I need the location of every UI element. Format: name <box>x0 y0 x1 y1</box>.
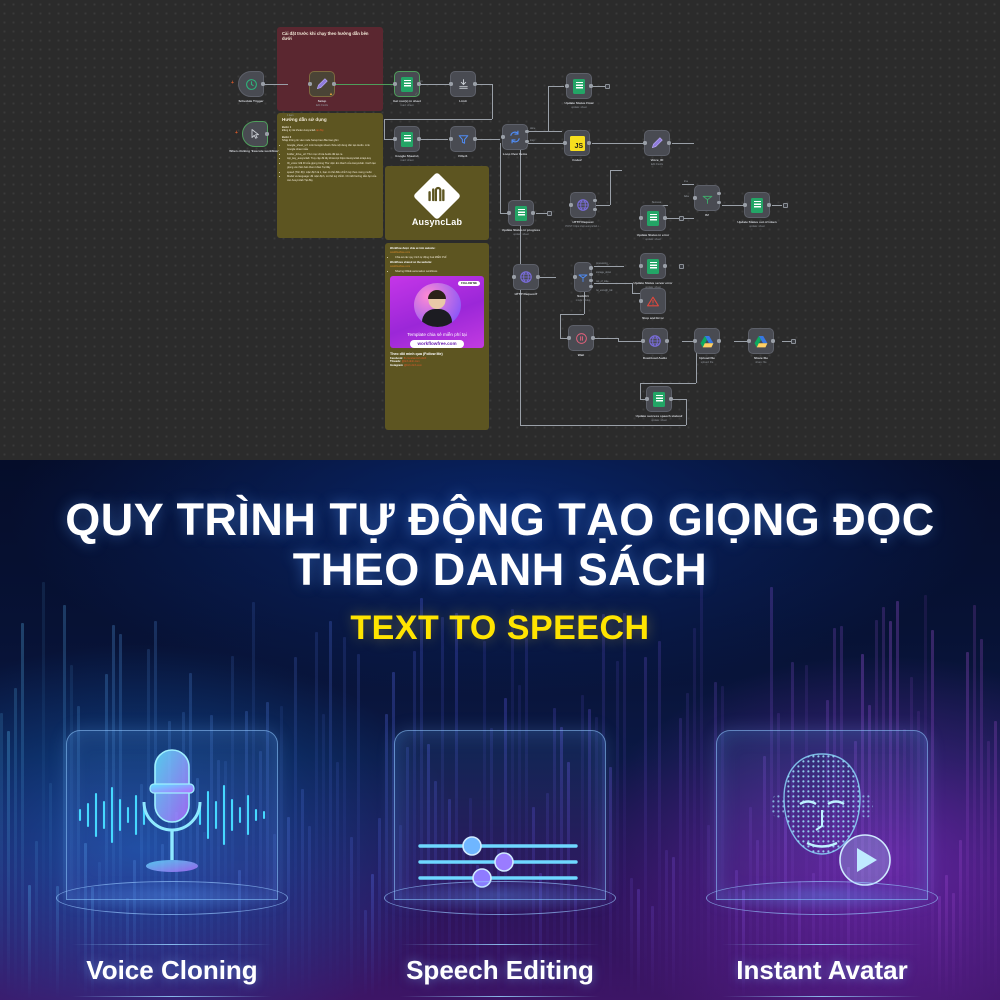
loop-icon <box>508 130 522 144</box>
wire <box>540 277 556 278</box>
output-port[interactable] <box>417 137 420 140</box>
node-label-http-request: HTTP Request POST: https://api.ausynclab… <box>551 221 615 229</box>
input-port[interactable] <box>693 196 696 199</box>
endpoint-cap <box>547 211 552 216</box>
input-port[interactable] <box>393 82 396 85</box>
avatar <box>414 283 461 327</box>
page-subtitle: TEXT TO SPEECH <box>0 609 1000 648</box>
node-label-schedule-trigger: Schedule Trigger <box>219 100 283 104</box>
pencil-icon <box>650 136 664 150</box>
n8n-workflow-canvas[interactable]: Cài đặt trước khi chạy theo hướng dẫn bê… <box>0 0 1000 460</box>
endpoint-cap <box>679 264 684 269</box>
output-port-loop[interactable] <box>525 140 528 143</box>
wire <box>640 383 696 384</box>
follow-label-threads: Threads: <box>390 360 401 363</box>
follow-value-threads[interactable]: @linh.dinh.com <box>402 360 420 363</box>
output-port-true[interactable] <box>717 192 720 195</box>
input-port[interactable] <box>449 137 452 140</box>
feature-panels: Voice Cloning <box>0 730 1000 990</box>
node-loop-over-items[interactable] <box>502 124 528 150</box>
node-label-stop-and-error: Stop and Error <box>621 317 685 321</box>
input-port[interactable] <box>645 397 648 400</box>
glass-frame <box>716 730 928 900</box>
google-sheets-icon <box>515 206 527 221</box>
page-title-line2: THEO DANH SÁCH <box>0 545 1000 595</box>
output-port[interactable] <box>587 141 590 144</box>
warning-badge-icon: ▲ <box>329 92 333 96</box>
glass-frame <box>66 730 278 900</box>
wire <box>384 119 385 139</box>
input-port[interactable] <box>643 141 646 144</box>
ausynclab-logo-icon <box>413 172 461 220</box>
wire <box>594 338 618 339</box>
add-node-plus-icon[interactable]: + <box>235 130 238 136</box>
input-port[interactable] <box>507 211 510 214</box>
wire <box>596 205 610 206</box>
feature-label-speech-editing: Speech Editing <box>360 944 640 997</box>
node-http-request[interactable] <box>570 192 596 218</box>
output-port[interactable] <box>473 82 476 85</box>
output-port-0[interactable] <box>589 266 592 269</box>
switch-icon <box>577 271 589 283</box>
output-port[interactable] <box>265 132 268 135</box>
wire <box>528 131 562 132</box>
output-port-2[interactable] <box>589 279 592 282</box>
clock-icon <box>245 78 258 91</box>
page-title-line1: QUY TRÌNH TỰ ĐỘNG TẠO GIỌNG ĐỌC <box>0 495 1000 545</box>
speech-editor-icon <box>402 740 598 890</box>
wire <box>682 184 694 185</box>
follow-label-instagram: Instagram: <box>390 364 403 367</box>
endpoint-cap <box>783 203 788 208</box>
feature-panel-voice-cloning: Voice Cloning <box>32 730 312 997</box>
node-update-status-final[interactable] <box>566 73 592 99</box>
list-item: Sharing FREE automation workflows <box>395 270 484 274</box>
list-item: Google_sheet_url: Link Google sheet chứa… <box>287 144 378 152</box>
follow-value-instagram[interactable]: @linh.dinh.com <box>404 364 422 367</box>
output-port[interactable] <box>767 203 770 206</box>
share-en-head: Workflows shared on the website: <box>390 261 432 264</box>
node-google-sheets1[interactable] <box>394 126 420 152</box>
promo-url[interactable]: workflowfree.com <box>410 340 463 348</box>
node-label-update-success-speech-status2: Update success speech status2 update: sh… <box>627 415 691 423</box>
limit-icon <box>457 78 470 91</box>
glass-frame <box>394 730 606 900</box>
output-port[interactable] <box>417 82 420 85</box>
output-port[interactable] <box>261 82 264 85</box>
add-node-plus-icon[interactable]: + <box>231 80 234 86</box>
globe-icon <box>576 198 590 212</box>
output-port[interactable] <box>663 264 666 267</box>
input-port[interactable] <box>449 82 452 85</box>
node-when-clicking-execute[interactable] <box>242 121 268 147</box>
wire <box>610 170 611 205</box>
wire <box>264 84 288 85</box>
wire <box>722 205 744 206</box>
globe-icon <box>519 270 533 284</box>
wire <box>520 425 686 426</box>
promo-card: FOLLOW ME Template chia sẻ miễn phí tại … <box>390 276 484 348</box>
list-item: speed (Tốc độ): mặc định là 1, bạn có th… <box>287 171 378 175</box>
hologram-plinth <box>706 881 938 915</box>
node-label-update-status-in-progress: Update Status in progress update: sheet <box>489 229 553 237</box>
google-sheets-icon <box>647 259 659 274</box>
feature-label-instant-avatar: Instant Avatar <box>682 944 962 997</box>
google-sheets-icon <box>573 79 585 94</box>
ausynclab-glyph <box>426 183 448 205</box>
guide-step2-text: Nhập thông tin vào node Setup ban đầu ba… <box>282 139 339 142</box>
wire <box>560 314 584 315</box>
output-port-error[interactable] <box>593 208 596 211</box>
input-port[interactable] <box>569 203 572 206</box>
node-upload-file[interactable] <box>694 328 720 354</box>
node-update-status-out-of-token[interactable] <box>744 192 770 218</box>
cursor-icon <box>249 128 261 140</box>
guide-step1-text: Đăng ký tài khoản Ausynclab <box>282 129 315 132</box>
list-item: Model và language: để mặc định, có thể t… <box>287 175 378 183</box>
node-label-update-status-final: Update Status Final update: sheet <box>547 102 611 110</box>
node-label-switch1: Switch1 mode: Rules <box>551 295 615 303</box>
promo-text: Template chia sẻ miễn phí tại <box>407 332 467 337</box>
follow-section: Theo dõi mình qua (Follow Me) Facebook: … <box>390 352 484 368</box>
feature-panel-instant-avatar: Instant Avatar <box>682 730 962 997</box>
endpoint-cap <box>605 84 610 89</box>
pencil-icon <box>315 77 329 91</box>
endpoint-cap <box>791 339 796 344</box>
node-switch1[interactable] <box>574 262 592 292</box>
output-port-success[interactable] <box>593 199 596 202</box>
wire-label-switch-0: processing_... <box>596 262 611 265</box>
list-item: ID_voice: Mã ID của giọng trong Thư viện… <box>287 162 378 170</box>
wire-label-switch-3: no_enough_tok <box>596 289 613 292</box>
wire <box>384 119 492 120</box>
wire <box>528 143 564 144</box>
warning-triangle-icon <box>646 295 660 308</box>
share-en-url[interactable]: workflowfree.com <box>390 265 410 268</box>
follow-head: Theo dõi mình qua (Follow Me) <box>390 352 443 356</box>
output-port-3[interactable] <box>589 285 592 288</box>
javascript-icon: JS <box>570 136 585 151</box>
output-port[interactable] <box>589 84 592 87</box>
output-port[interactable] <box>717 339 720 342</box>
guide-bullet-list: Google_sheet_url: Link Google sheet chứa… <box>287 144 378 183</box>
branch-icon <box>701 192 714 205</box>
wire-label-if-false: false <box>684 195 689 198</box>
node-label-when-clicking-execute: When clicking ‘Execute workflow’ <box>222 150 286 154</box>
wire-label-loop: loop <box>530 139 535 142</box>
input-port[interactable] <box>512 275 515 278</box>
node-update-status-server-error[interactable] <box>640 253 666 279</box>
sticky-note-setup[interactable]: Cài đặt trước khi chạy theo hướng dẫn bê… <box>277 27 383 111</box>
node-if2[interactable] <box>694 185 720 211</box>
globe-icon <box>648 334 662 348</box>
output-port[interactable] <box>332 82 335 85</box>
node-label-wait: Wait <box>549 354 613 358</box>
input-port[interactable] <box>743 203 746 206</box>
wire <box>672 143 694 144</box>
output-port[interactable] <box>591 336 594 339</box>
wire-label-done: done <box>530 127 535 130</box>
input-port[interactable] <box>565 84 568 87</box>
wire <box>734 341 748 342</box>
list-item: Chia sẻ các quy trình tự động hoá MIỄN P… <box>395 256 484 260</box>
node-filter1[interactable] <box>450 126 476 152</box>
google-sheets-icon <box>647 211 659 226</box>
node-label-http-request7: HTTP Request7 <box>494 293 558 297</box>
node-http-request7[interactable] <box>513 264 539 290</box>
input-port[interactable] <box>563 141 566 144</box>
wire <box>640 383 641 399</box>
node-label-voice-id: Voice_ID Edit Fields <box>625 159 689 167</box>
node-setup[interactable]: ▲ <box>309 71 335 97</box>
output-port[interactable] <box>665 339 668 342</box>
wire <box>618 341 642 342</box>
sticky-note-share[interactable]: Workflow được chia sẻ trên website: work… <box>385 243 489 430</box>
output-port[interactable] <box>667 141 670 144</box>
google-sheets-icon <box>751 198 763 213</box>
sticky-note-guide-title: Hướng dẫn sử dụng <box>282 117 378 123</box>
input-port[interactable] <box>308 82 311 85</box>
google-sheets-icon <box>401 77 413 92</box>
wire <box>592 143 644 144</box>
sticky-note-guide[interactable]: Hướng dẫn sử dụng Bước 1 Đăng ký tài kho… <box>277 113 383 238</box>
wire-label-http-success: Success <box>652 201 661 204</box>
wire <box>672 399 686 400</box>
wire <box>592 86 606 87</box>
check-badge-icon: ✓ <box>415 92 418 96</box>
wire-label-switch-2: out_of_toke... <box>596 280 611 283</box>
wire <box>772 205 782 206</box>
input-port[interactable] <box>639 264 642 267</box>
output-port-done[interactable] <box>525 130 528 133</box>
guide-step1-link[interactable]: tại đây <box>316 129 324 132</box>
wire <box>560 314 561 338</box>
node-stop-and-error[interactable] <box>640 288 666 314</box>
node-label-loop-over-items: Loop Over Items <box>483 153 547 157</box>
node-label-update-status-in-error: Update Status in error update: sheet <box>621 234 685 242</box>
input-port[interactable] <box>747 339 750 342</box>
node-label-if2: If2 <box>675 214 739 218</box>
google-drive-icon <box>700 335 714 348</box>
node-label-google-sheets1: Google Sheets1 read: sheet <box>375 155 439 163</box>
wire-label-if-true: true <box>684 180 688 183</box>
google-drive-icon <box>754 335 768 348</box>
input-port[interactable] <box>693 339 696 342</box>
node-update-status-in-progress[interactable] <box>508 200 534 226</box>
filter-icon <box>457 133 470 146</box>
node-update-status-in-error[interactable] <box>640 205 666 231</box>
node-share-file[interactable] <box>748 328 774 354</box>
list-item: Folder_drive_url: Thư mục chứa Audio đã … <box>287 153 378 157</box>
sticky-note-guide-body: Bước 1 Đăng ký tài khoản Ausynclab tại đ… <box>282 126 378 183</box>
node-schedule-trigger[interactable] <box>238 71 264 97</box>
sticky-note-setup-title: Cài đặt trước khi chạy theo hướng dẫn bê… <box>282 31 378 42</box>
share-vi-url[interactable]: workflowfree.com <box>390 251 410 254</box>
wireframe-face-icon <box>747 740 897 890</box>
output-port[interactable] <box>663 216 666 219</box>
share-vi-head: Workflow được chia sẻ trên website: <box>390 247 435 250</box>
list-item: Api_key_ausynclab: Truy cập để lấy khoá … <box>287 157 378 161</box>
input-port[interactable] <box>641 339 644 342</box>
node-update-success-speech-status2[interactable] <box>646 386 672 412</box>
sticky-note-ausynclab-logo[interactable]: AusyncLab <box>385 166 489 240</box>
node-code2[interactable]: JS <box>564 130 590 156</box>
node-wait[interactable] <box>568 325 594 351</box>
output-port[interactable] <box>531 211 534 214</box>
output-port[interactable] <box>669 397 672 400</box>
node-label-setup: Setup Edit Fields <box>290 100 354 108</box>
wire <box>594 266 624 267</box>
node-label-share-file: Share file share: file <box>729 357 793 365</box>
google-sheets-icon <box>653 392 665 407</box>
feature-panel-speech-editing: Speech Editing <box>360 730 640 997</box>
node-get-rows-in-sheet[interactable]: ✓ <box>394 71 420 97</box>
google-sheets-icon <box>401 132 413 147</box>
input-port[interactable] <box>639 299 642 302</box>
node-label-limit: Limit <box>431 100 495 104</box>
node-download-audio[interactable] <box>642 328 668 354</box>
hologram-plinth <box>384 881 616 915</box>
node-label-code2: Code2 <box>545 159 609 163</box>
wire-label-switch-1: storage_down <box>596 271 611 274</box>
output-port-false[interactable] <box>717 201 720 204</box>
wire <box>548 86 564 87</box>
node-limit[interactable] <box>450 71 476 97</box>
node-voice-id[interactable] <box>644 130 670 156</box>
feature-label-voice-cloning: Voice Cloning <box>32 944 312 997</box>
input-port[interactable] <box>567 336 570 339</box>
output-port[interactable] <box>536 275 539 278</box>
microphone-icon <box>128 740 216 890</box>
wire-label-items-bottom: 1 item <box>287 114 294 117</box>
wire <box>610 170 622 171</box>
output-port[interactable] <box>771 339 774 342</box>
input-port[interactable] <box>573 275 576 278</box>
input-port[interactable] <box>501 135 504 138</box>
output-port-1[interactable] <box>589 273 592 276</box>
share-note-body: Workflow được chia sẻ trên website: work… <box>390 247 484 274</box>
node-label-get-rows-in-sheet: Get row(s) in sheet read: sheet <box>375 100 439 108</box>
input-port[interactable] <box>393 137 396 140</box>
node-label-update-status-out-of-token: Update Status out of token update: sheet <box>725 221 789 229</box>
promo-banner: QUY TRÌNH TỰ ĐỘNG TẠO GIỌNG ĐỌC THEO DAN… <box>0 460 1000 1000</box>
pause-icon <box>575 332 588 345</box>
banner-title-block: QUY TRÌNH TỰ ĐỘNG TẠO GIỌNG ĐỌC THEO DAN… <box>0 495 1000 648</box>
output-port[interactable] <box>473 137 476 140</box>
follow-me-badge: FOLLOW ME <box>458 281 480 286</box>
input-port[interactable] <box>639 216 642 219</box>
